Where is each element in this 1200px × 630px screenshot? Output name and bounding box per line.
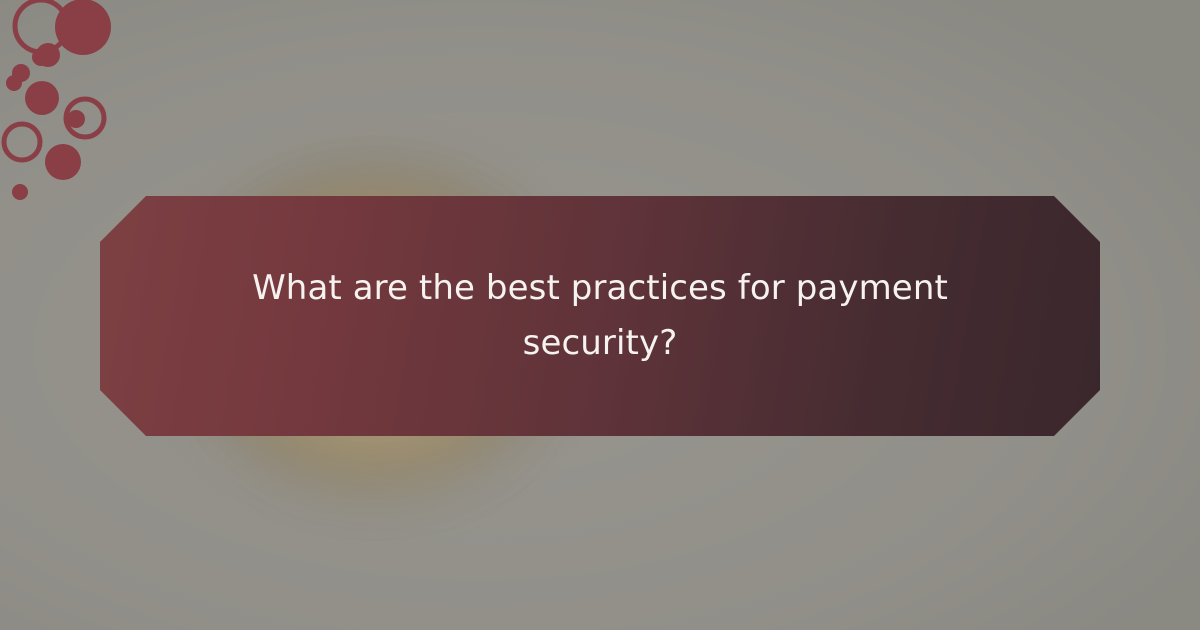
headline-text: What are the best practices for payment …	[250, 261, 950, 371]
headline-banner: What are the best practices for payment …	[100, 196, 1100, 436]
social-card: What are the best practices for payment …	[0, 0, 1200, 630]
